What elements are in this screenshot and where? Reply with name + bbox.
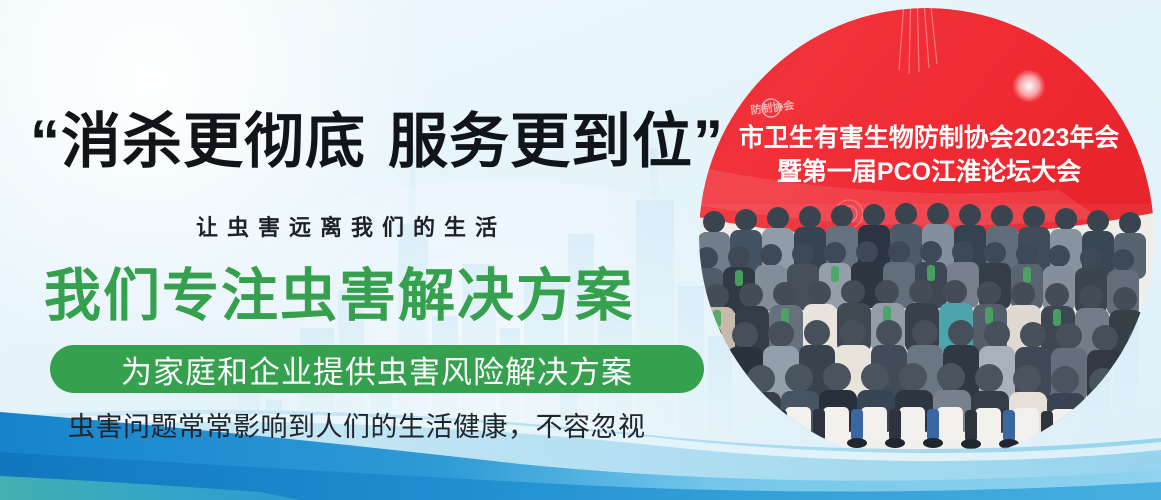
stage-banner-line-2: 暨第一届PCO江淮论坛大会	[777, 157, 1081, 186]
headline-part-1: “消杀更彻底	[30, 108, 366, 175]
service-pill-text: 为家庭和企业提供虫害风险解决方案	[121, 347, 633, 392]
page-title: “消杀更彻底服务更到位”	[30, 112, 724, 172]
tagline-text: 虫害问题常常影响到人们的生活健康，不容忽视	[68, 405, 646, 444]
promo-banner: 防制协会 市卫生有害生物防制协会2023年会 暨第一届PCO江淮论坛大会	[0, 0, 1161, 500]
stage-banner-line-1: 市卫生有害生物防制协会2023年会	[739, 123, 1120, 152]
green-headline: 我们专注虫害解决方案	[44, 268, 634, 325]
headline-part-2: 服务更到位”	[388, 108, 724, 175]
subtitle: 让虫害远离我们的生活	[196, 210, 506, 242]
service-pill-banner: 为家庭和企业提供虫害风险解决方案	[50, 345, 704, 393]
